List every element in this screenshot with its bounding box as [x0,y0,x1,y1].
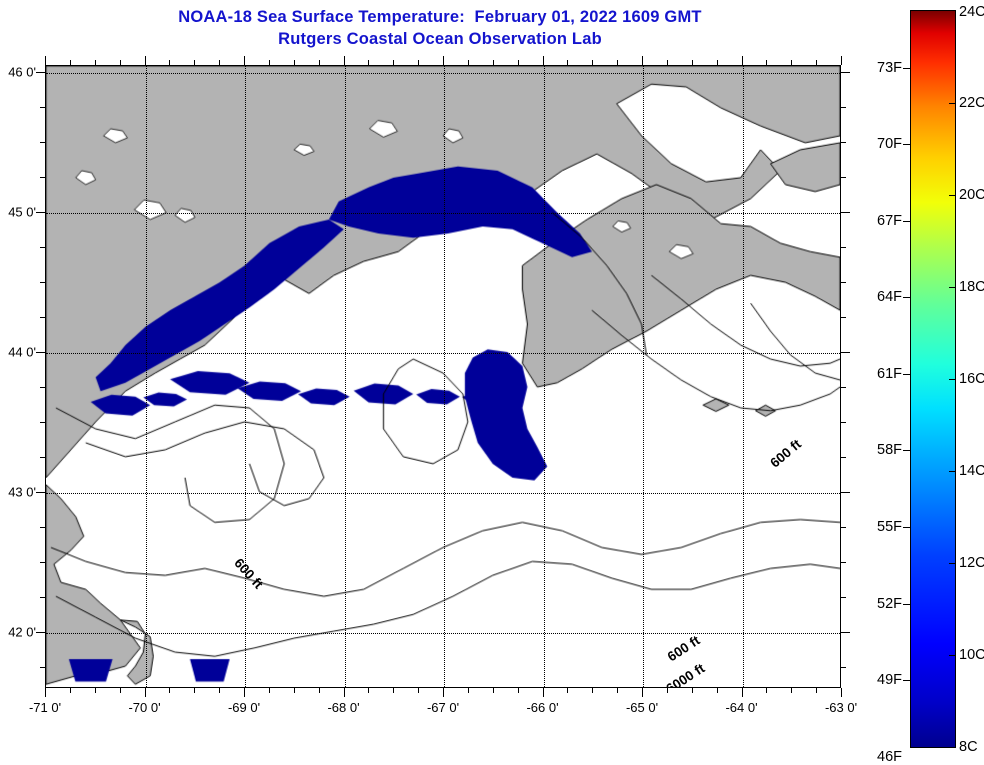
axis-tick [667,60,668,65]
axis-tick [40,142,45,143]
axis-tick [269,60,270,65]
colorbar-label-f: 73F [860,60,902,76]
sst-map[interactable]: 600 ft600 ft600 ft600 ft6000 ft [45,65,841,688]
axis-tick [120,60,121,65]
axis-tick [95,60,96,65]
x-axis-label: -69 0' [228,700,260,715]
axis-tick [841,352,850,353]
colorbar-label-f: 64F [860,289,902,305]
axis-tick [841,597,846,598]
axis-tick [543,56,544,65]
colorbar-label-c: 22C [959,95,984,111]
axis-tick [841,107,846,108]
axis-tick [269,688,270,693]
axis-tick [344,688,345,697]
axis-tick [40,457,45,458]
x-axis-label: -63 0' [825,700,857,715]
axis-tick [40,177,45,178]
axis-tick [418,688,419,693]
colorbar-tick [903,527,910,528]
colorbar-tick [903,221,910,222]
axis-tick [493,60,494,65]
colorbar-label-c: 10C [959,647,984,663]
colorbar-tick [949,195,956,196]
axis-tick [841,282,846,283]
axis-tick [40,247,45,248]
axis-tick [518,688,519,693]
colorbar-label-c: 18C [959,279,984,295]
axis-tick [40,527,45,528]
axis-tick [841,632,850,633]
axis-tick [592,60,593,65]
colorbar-fahrenheit-labels: 73F70F67F64F61F58F55F52F49F46F [860,0,902,761]
axis-tick [70,688,71,693]
colorbar-label-f: 46F [860,749,902,765]
axis-tick [418,60,419,65]
axis-tick [95,688,96,693]
y-axis-label: 42 0' [0,625,36,640]
chart-title: NOAA-18 Sea Surface Temperature: Februar… [0,6,880,50]
axis-tick [393,688,394,693]
axis-tick [393,60,394,65]
axis-tick [40,422,45,423]
axis-tick [841,142,846,143]
axis-tick [841,457,846,458]
x-axis-label: -66 0' [526,700,558,715]
axis-tick [692,688,693,693]
axis-tick [40,387,45,388]
axis-tick [791,60,792,65]
colorbar-tick [949,655,956,656]
x-axis-label: -65 0' [626,700,658,715]
axis-tick [344,56,345,65]
axis-tick [319,60,320,65]
colorbar-label-f: 61F [860,366,902,382]
axis-tick [40,667,45,668]
colorbar-label-c: 8C [959,739,978,755]
y-axis-label: 43 0' [0,485,36,500]
axis-tick [219,688,220,693]
axis-tick [45,56,46,65]
axis-tick [443,56,444,65]
colorbar-label-c: 24C [959,4,984,20]
gridline-lon [643,66,644,687]
axis-tick [592,688,593,693]
gridline-lon [544,66,545,687]
axis-tick [120,688,121,693]
axis-tick [219,60,220,65]
axis-tick [244,56,245,65]
axis-tick [169,60,170,65]
axis-tick [717,60,718,65]
axis-tick [368,60,369,65]
colorbar-tick [903,604,910,605]
axis-tick [70,60,71,65]
axis-tick [45,688,46,697]
x-axis-label: -67 0' [427,700,459,715]
x-axis-label: -68 0' [327,700,359,715]
axis-tick [443,688,444,697]
axis-tick [145,56,146,65]
axis-tick [145,688,146,697]
axis-tick [468,60,469,65]
axis-tick [816,60,817,65]
axis-tick [617,688,618,693]
colorbar-tick [949,379,956,380]
axis-tick [36,212,45,213]
axis-tick [841,688,842,697]
y-axis-label: 45 0' [0,205,36,220]
sst-map-canvas [46,66,840,687]
axis-tick [36,352,45,353]
axis-tick [766,688,767,693]
colorbar-celsius-labels: 24C22C20C18C16C14C12C10C8C [959,0,984,761]
axis-tick [40,562,45,563]
title-line-2: Rutgers Coastal Ocean Observation Lab [0,28,880,50]
y-axis-label: 44 0' [0,345,36,360]
axis-tick [567,60,568,65]
gridline-lat [46,633,840,634]
axis-tick [319,688,320,693]
axis-tick [40,282,45,283]
axis-tick [841,72,850,73]
axis-tick [493,688,494,693]
gridline-lon [146,66,147,687]
axis-tick [40,107,45,108]
gridline-lon [743,66,744,687]
axis-tick [841,562,846,563]
colorbar-tick [903,680,910,681]
colorbar-label-f: 67F [860,213,902,229]
axis-tick [368,688,369,693]
axis-tick [841,56,842,65]
colorbar-label-f: 52F [860,596,902,612]
colorbar-label-c: 12C [959,555,984,571]
gridline-lon [245,66,246,687]
axis-tick [294,688,295,693]
colorbar-label-c: 16C [959,371,984,387]
axis-tick [841,527,846,528]
axis-tick [40,597,45,598]
x-axis-label: -70 0' [128,700,160,715]
colorbar-tick [903,144,910,145]
colorbar-tick [903,68,910,69]
colorbar-tick [949,563,956,564]
axis-tick [841,667,846,668]
axis-tick [36,72,45,73]
gridline-lon [444,66,445,687]
colorbar-label-f: 49F [860,672,902,688]
axis-tick [717,688,718,693]
axis-tick [642,56,643,65]
axis-tick [244,688,245,697]
title-line-1: NOAA-18 Sea Surface Temperature: Februar… [0,6,880,28]
axis-tick [742,688,743,697]
y-axis-label: 46 0' [0,65,36,80]
colorbar-tick [903,297,910,298]
axis-tick [841,177,846,178]
axis-tick [841,422,846,423]
axis-tick [816,688,817,693]
colorbar-tick [903,374,910,375]
gridline-lat [46,353,840,354]
axis-tick [567,688,568,693]
axis-tick [518,60,519,65]
x-axis-label: -71 0' [29,700,61,715]
axis-tick [841,492,850,493]
axis-tick [294,60,295,65]
axis-tick [742,56,743,65]
gridline-lon [345,66,346,687]
axis-tick [692,60,693,65]
axis-tick [791,688,792,693]
axis-tick [617,60,618,65]
colorbar-label-c: 14C [959,463,984,479]
colorbar-tick [903,450,910,451]
gridline-lat [46,73,840,74]
axis-tick [543,688,544,697]
axis-tick [36,632,45,633]
axis-tick [841,212,850,213]
axis-tick [642,688,643,697]
axis-tick [841,387,846,388]
colorbar-tick [949,287,956,288]
axis-tick [841,317,846,318]
colorbar-label-f: 70F [860,136,902,152]
gridline-lat [46,213,840,214]
axis-tick [766,60,767,65]
colorbar-tick [949,103,956,104]
axis-tick [194,60,195,65]
gridline-lat [46,493,840,494]
axis-tick [468,688,469,693]
colorbar-label-f: 55F [860,519,902,535]
colorbar-label-c: 20C [959,187,984,203]
axis-tick [667,688,668,693]
axis-tick [40,317,45,318]
axis-tick [36,492,45,493]
x-axis-label: -64 0' [725,700,757,715]
colorbar-tick [949,471,956,472]
colorbar-label-f: 58F [860,442,902,458]
axis-tick [841,247,846,248]
axis-tick [194,688,195,693]
axis-tick [169,688,170,693]
